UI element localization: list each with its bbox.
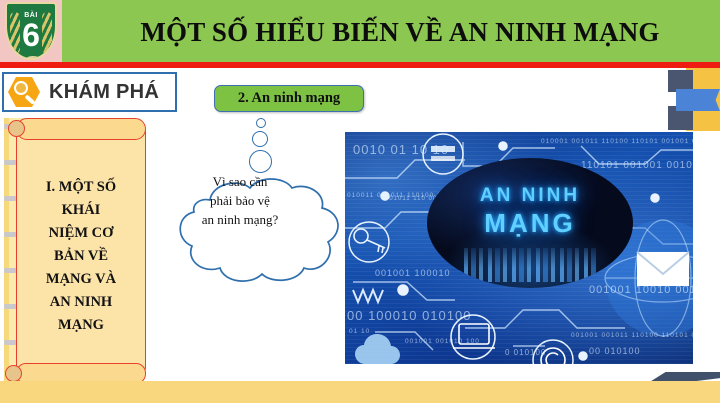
bubble-line: Vì sao cần [172, 172, 308, 191]
sidebar-line: AN NINH [50, 291, 112, 313]
image-overlay-title-line2: MẠNG [427, 208, 633, 239]
bubble-line: an ninh mạng? [172, 210, 308, 229]
binary-text: 001001 001010 100 [405, 338, 480, 345]
envelope-icon [637, 252, 689, 286]
sidebar-line: KHÁI [62, 199, 101, 221]
sidebar-heading-text: I. MỘT SỐ KHÁI NIỆM CƠ BẢN VỀ MẠNG VÀ AN… [22, 142, 140, 370]
scroll-top-roll [16, 118, 146, 140]
sidebar-line: BẢN VỀ [54, 245, 108, 267]
key-icon [354, 229, 385, 253]
cloud-icon [355, 334, 400, 364]
image-title-ellipse: AN NINH MẠNG [427, 158, 633, 288]
bubble-line: phải bảo vệ [172, 191, 308, 210]
badge-number: 6 [7, 18, 55, 52]
www-icon [353, 290, 383, 302]
lesson-badge: BÀI 6 [0, 0, 62, 62]
deco-blue-banner [676, 89, 720, 111]
sidebar-line: MẠNG VÀ [46, 268, 116, 290]
sidebar-line: NIỆM CƠ [49, 222, 114, 244]
header-divider [0, 62, 720, 68]
image-overlay-title-line1: AN NINH [427, 185, 633, 207]
binary-text: 01 10 [349, 328, 370, 335]
magnifier-lens [14, 81, 28, 95]
binary-text: 001001 100010 [375, 268, 451, 278]
cyber-security-image: 010001 001011 110100 110101 001001 00101… [345, 132, 693, 364]
scroll-curl-bottom-icon [5, 365, 22, 382]
slide-footer [0, 381, 720, 403]
binary-text: 00 100010 010100 [347, 308, 471, 323]
binary-text: 0 010100 [505, 348, 546, 357]
section-pill: 2. An ninh mạng [214, 85, 364, 112]
explore-label: KHÁM PHÁ [49, 81, 159, 104]
explore-box: KHÁM PHÁ [2, 72, 177, 112]
page-title: MỘT SỐ HIỂU BIẾN VỀ AN NINH MẠNG [96, 8, 704, 56]
sidebar-line: MẠNG [58, 314, 104, 336]
deco-navy-square-top [668, 70, 693, 92]
shield-arc-decoration [15, 56, 51, 60]
corner-blocks-decoration [668, 68, 720, 131]
binary-text: 00 010100 [589, 346, 641, 356]
thought-dot-large-icon [249, 150, 272, 173]
slide-canvas: BÀI 6 MỘT SỐ HIỂU BIẾN VỀ AN NINH MẠNG K… [0, 0, 720, 403]
thought-bubble-text: Vì sao cần phải bảo vệ an ninh mạng? [172, 172, 308, 229]
binary-text: 001001 001011 110100 110101 0010 [571, 332, 693, 339]
thought-dot-small-icon [256, 118, 266, 128]
city-skyline-decoration [464, 248, 596, 282]
thought-dot-medium-icon [252, 131, 268, 147]
binary-text: 010001 001011 110100 110101 001001 00101 [541, 138, 693, 145]
shield-badge-icon: BÀI 6 [5, 2, 57, 60]
scroll-curl-top-icon [8, 120, 25, 137]
binary-text: 110101 001001 00101 [581, 160, 693, 171]
binary-text: 0010 01 10 10 [353, 142, 449, 157]
sidebar-line: I. MỘT SỐ [46, 176, 116, 198]
sidebar-scroll-panel: I. MỘT SỐ KHÁI NIỆM CƠ BẢN VỀ MẠNG VÀ AN… [16, 118, 146, 384]
magnifier-hexagon-icon [8, 75, 42, 109]
binary-text: 001001 10010 0010 [589, 284, 693, 296]
